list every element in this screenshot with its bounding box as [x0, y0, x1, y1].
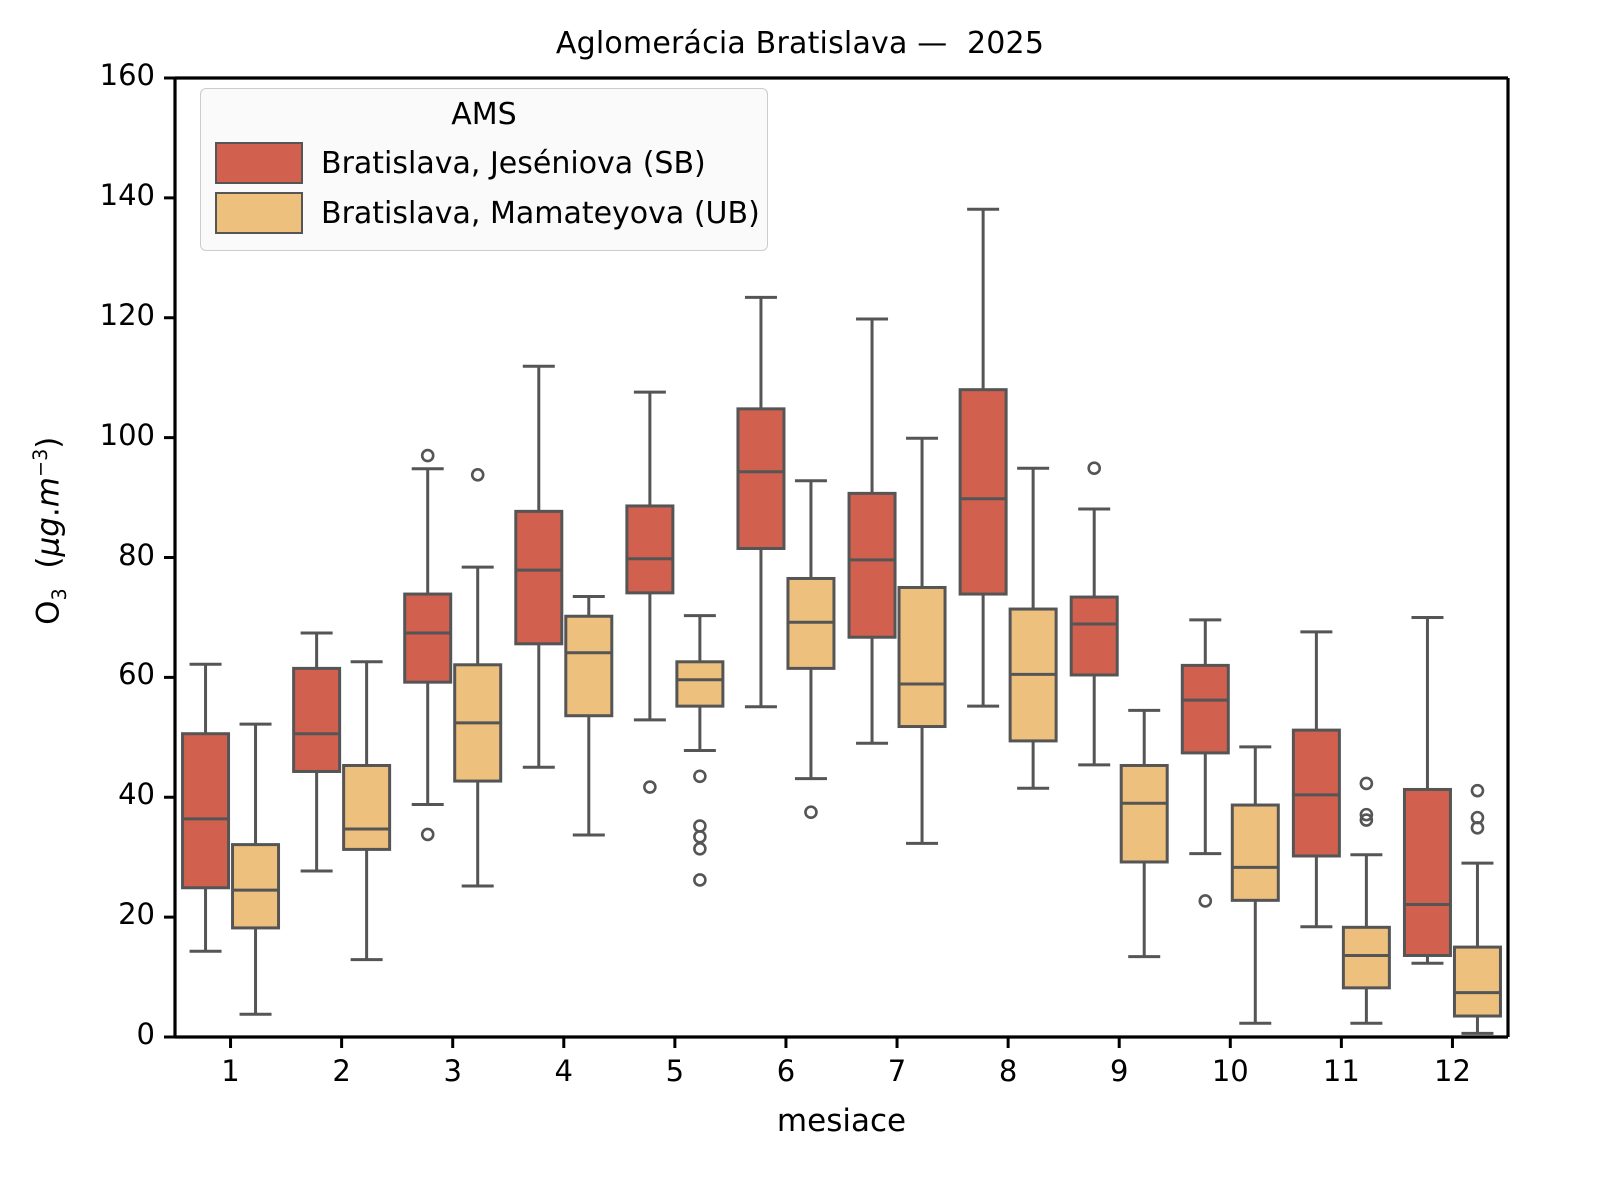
x-tick-label: 7	[857, 1054, 937, 1088]
box-plot-bratislavajesniovasb-m2	[294, 633, 340, 871]
x-tick-label: 11	[1301, 1054, 1381, 1088]
y-axis-label: O3 (μg.m−3)	[29, 351, 71, 711]
legend-item-sb[interactable]: Bratislava, Jeséniova (SB)	[215, 138, 753, 188]
box-plot-bratislavamamateyovaub-m9	[1121, 710, 1167, 956]
box-plot-bratislavamamateyovaub-m7	[899, 438, 945, 843]
y-tick-label: 20	[47, 897, 155, 931]
box-plot-bratislavamamateyovaub-m3	[455, 469, 501, 886]
legend-label-ub: Bratislava, Mamateyova (UB)	[321, 196, 760, 231]
box-plot-bratislavamamateyovaub-m6	[788, 481, 834, 818]
y-tick-label: 140	[47, 178, 155, 212]
box-plot-bratislavamamateyovaub-m10	[1232, 747, 1278, 1023]
box-plot-bratislavajesniovasb-m12	[1404, 617, 1450, 963]
box-plot-bratislavajesniovasb-m3	[405, 450, 451, 840]
x-tick-label: 5	[635, 1054, 715, 1088]
legend-label-sb: Bratislava, Jeséniova (SB)	[321, 146, 706, 181]
x-tick-label: 12	[1412, 1054, 1492, 1088]
legend-item-ub[interactable]: Bratislava, Mamateyova (UB)	[215, 188, 753, 238]
y-tick-label: 160	[47, 58, 155, 92]
box-plot-bratislavajesniovasb-m8	[960, 209, 1006, 706]
box-plot-bratislavamamateyovaub-m1	[233, 724, 279, 1014]
box-plot-bratislavamamateyovaub-m8	[1010, 468, 1056, 788]
box-plot-bratislavajesniovasb-m1	[183, 664, 229, 951]
box-plot-bratislavajesniovasb-m11	[1293, 632, 1339, 927]
legend-title: AMS	[215, 97, 753, 132]
y-tick-label: 0	[47, 1017, 155, 1051]
y-tick-label: 40	[47, 777, 155, 811]
x-axis-label: mesiace	[175, 1103, 1508, 1139]
chart-figure: Aglomerácia Bratislava — 2025 0204060801…	[0, 0, 1600, 1200]
y-tick-label: 120	[47, 298, 155, 332]
box-plot-bratislavamamateyovaub-m11	[1343, 778, 1389, 1023]
x-tick-label: 3	[413, 1054, 493, 1088]
box-plot-bratislavamamateyovaub-m5	[677, 616, 723, 886]
box-plot-bratislavajesniovasb-m4	[516, 366, 562, 767]
legend-swatch-ub	[215, 192, 303, 234]
box-plot-bratislavajesniovasb-m9	[1071, 463, 1117, 765]
box-plot-bratislavajesniovasb-m5	[627, 392, 673, 792]
box-plot-bratislavajesniovasb-m10	[1182, 620, 1228, 907]
x-tick-label: 4	[524, 1054, 604, 1088]
x-tick-label: 10	[1190, 1054, 1270, 1088]
legend: AMS Bratislava, Jeséniova (SB) Bratislav…	[200, 88, 768, 251]
x-tick-label: 6	[746, 1054, 826, 1088]
box-plot-bratislavajesniovasb-m6	[738, 297, 784, 706]
box-plot-bratislavajesniovasb-m7	[849, 319, 895, 743]
x-tick-label: 8	[968, 1054, 1048, 1088]
x-tick-label: 1	[191, 1054, 271, 1088]
box-plots-group	[183, 209, 1501, 1033]
box-plot-bratislavamamateyovaub-m12	[1454, 785, 1500, 1033]
box-plot-bratislavamamateyovaub-m2	[344, 662, 390, 960]
x-tick-label: 2	[302, 1054, 382, 1088]
x-tick-label: 9	[1079, 1054, 1159, 1088]
legend-swatch-sb	[215, 142, 303, 184]
box-plot-bratislavamamateyovaub-m4	[566, 596, 612, 835]
